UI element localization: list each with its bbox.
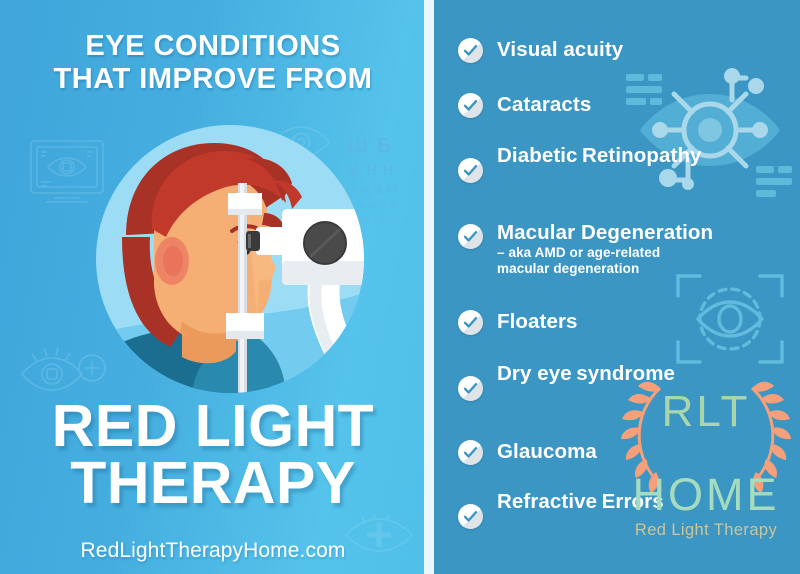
- list-item-label: Visual acuity: [497, 38, 623, 61]
- headline-line-2: THAT IMPROVE FROM: [0, 63, 426, 96]
- list-item[interactable]: Cataracts: [458, 93, 591, 118]
- list-item[interactable]: Diabetic Retinopathy: [458, 144, 702, 183]
- list-item-subtext: – aka AMD or age-related macular degener…: [497, 245, 713, 277]
- page-headline: EYE CONDITIONS THAT IMPROVE FROM: [0, 30, 426, 96]
- logo-brand-second: HOME: [612, 472, 800, 517]
- list-item[interactable]: Floaters: [458, 310, 578, 335]
- panel-divider: [424, 0, 434, 574]
- list-item-label: Dry eye: [497, 362, 572, 385]
- checkmark-icon: [458, 440, 483, 465]
- logo-tagline: Red Light Therapy: [612, 522, 800, 539]
- checkmark-icon: [458, 93, 483, 118]
- checkmark-icon: [458, 376, 483, 401]
- infographic-canvas: EYE CONDITIONS THAT IMPROVE FROM ШБ МНН …: [0, 0, 800, 574]
- eye-on-monitor-icon: [28, 138, 106, 210]
- title-line-1: RED LIGHT: [0, 398, 426, 455]
- site-url[interactable]: RedLightTherapyHome.com: [0, 539, 426, 563]
- title-line-2: THERAPY: [0, 455, 426, 512]
- list-item[interactable]: Visual acuity: [458, 38, 623, 63]
- rlt-home-logo[interactable]: RLT HOME Red Light Therapy: [612, 362, 800, 542]
- list-item-label: Diabetic: [497, 144, 578, 167]
- logo-brand: RLT: [612, 390, 800, 434]
- checkmark-icon: [458, 224, 483, 249]
- list-item-subtext-line-2: macular degeneration: [497, 261, 713, 277]
- list-item[interactable]: Glaucoma: [458, 440, 597, 465]
- page-title: RED LIGHT THERAPY: [0, 398, 426, 512]
- checkmark-icon: [458, 310, 483, 335]
- list-item-label: Cataracts: [497, 93, 591, 116]
- list-item-label: Refractive: [497, 490, 597, 513]
- eye-examination-illustration: [96, 125, 364, 393]
- list-item-subtext-line-1: – aka AMD or age-related: [497, 245, 713, 261]
- list-item-label-2: Retinopathy: [582, 144, 702, 167]
- left-panel: EYE CONDITIONS THAT IMPROVE FROM ШБ МНН …: [0, 0, 426, 574]
- list-item-label: Glaucoma: [497, 440, 597, 463]
- checkmark-icon: [458, 504, 483, 529]
- list-item-label: Floaters: [497, 310, 578, 333]
- list-item[interactable]: Macular Degeneration – aka AMD or age-re…: [458, 221, 713, 278]
- headline-line-1: EYE CONDITIONS: [0, 30, 426, 63]
- list-item-label: Macular Degeneration: [497, 221, 713, 244]
- checkmark-icon: [458, 158, 483, 183]
- checkmark-icon: [458, 38, 483, 63]
